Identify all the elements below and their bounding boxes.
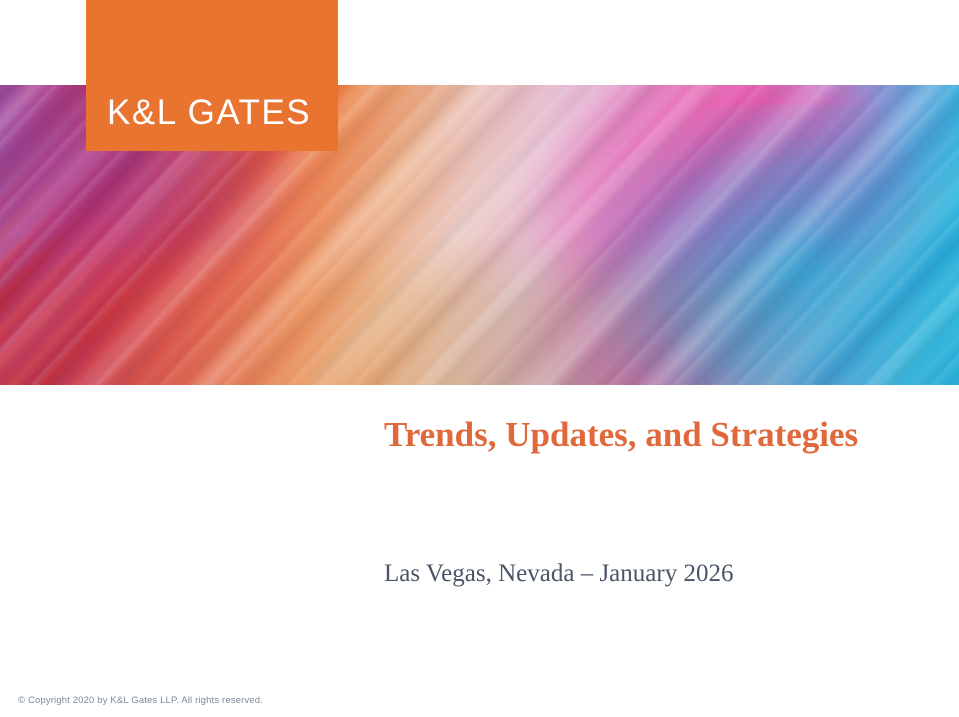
copyright-notice: © Copyright 2020 by K&L Gates LLP. All r… (18, 695, 263, 706)
page-subtitle: Las Vegas, Nevada – January 2026 (384, 558, 944, 589)
kl-gates-wordmark: K&L GATES (107, 95, 311, 130)
presentation-slide: K&L GATES Trends, Updates, and Strategie… (0, 0, 959, 717)
page-title: Trends, Updates, and Strategies (384, 414, 944, 456)
kl-gates-logo: K&L GATES (86, 0, 338, 151)
